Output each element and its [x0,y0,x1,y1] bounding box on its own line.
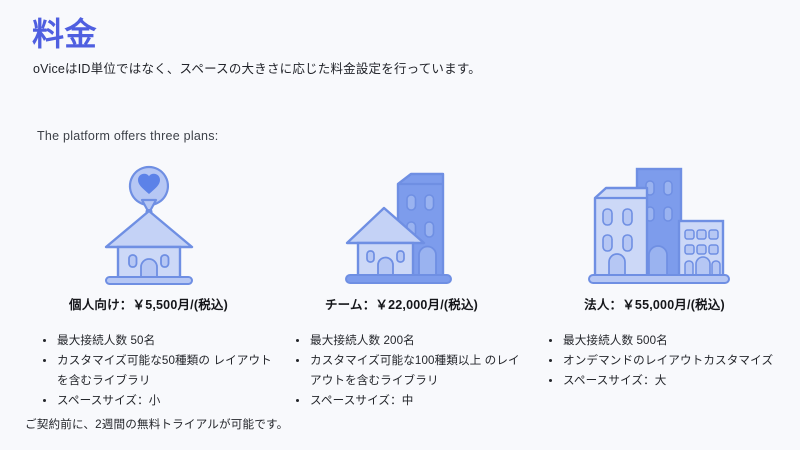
bullet-dot [43,399,46,402]
bullet-dot [549,339,552,342]
list-item: オンデマンドのレイアウトカスタマイズ [548,351,781,371]
plan-card-corporate: 法人：￥55,000月/(税込) 最大接続人数 500名 オンデマンドのレイアウ… [528,155,781,391]
plan-title: 法人：￥55,000月/(税込) [584,294,725,313]
lead-line: The platform offers three plans: [37,129,218,143]
plan-card-personal: 個人向け：￥5,500月/(税込) 最大接続人数 50名 カスタマイズ可能な50… [22,155,275,411]
plan-card-team: チーム：￥22,000月/(税込) 最大接続人数 200名 カスタマイズ可能な1… [275,155,528,411]
bullet-dot [296,359,299,362]
bullet-dot [296,339,299,342]
plans-row: 個人向け：￥5,500月/(税込) 最大接続人数 50名 カスタマイズ可能な50… [22,155,782,411]
list-item: 最大接続人数 500名 [548,331,781,351]
page-title: 料金 [32,16,97,53]
page-subtitle: oViceはID単位ではなく、スペースの大きさに応じた料金設定を行っています。 [33,58,481,77]
feature-text: カスタマイズ可能な100種類以上 のレイアウトを含むライブラリ [310,354,520,387]
list-item: カスタマイズ可能な50種類の レイアウトを含むライブラリ [42,351,275,390]
list-item: スペースサイズ：小 [42,391,275,411]
feature-text: 最大接続人数 200名 [310,334,415,347]
house-with-apartment-icon [275,155,528,285]
feature-text: スペースサイズ：大 [563,374,667,387]
feature-text: オンデマンドのレイアウトカスタマイズ [563,354,773,367]
bullet-dot [549,379,552,382]
list-item: スペースサイズ：大 [548,371,781,391]
bullet-dot [43,359,46,362]
city-buildings-icon [528,155,781,285]
list-item: 最大接続人数 50名 [42,331,275,351]
bullet-dot [549,359,552,362]
plan-features-list: 最大接続人数 50名 カスタマイズ可能な50種類の レイアウトを含むライブラリ … [22,331,275,411]
feature-text: 最大接続人数 500名 [563,334,668,347]
feature-text: 最大接続人数 50名 [57,334,155,347]
bullet-dot [296,399,299,402]
plan-title: 個人向け：￥5,500月/(税込) [69,294,228,313]
feature-text: スペースサイズ：小 [57,394,161,407]
list-item: スペースサイズ：中 [295,391,528,411]
house-with-heart-bubble-icon [22,155,275,285]
plan-features-list: 最大接続人数 200名 カスタマイズ可能な100種類以上 のレイアウトを含むライ… [275,331,528,411]
feature-text: スペースサイズ：中 [310,394,414,407]
plan-title: チーム：￥22,000月/(税込) [325,294,478,313]
list-item: カスタマイズ可能な100種類以上 のレイアウトを含むライブラリ [295,351,528,390]
pricing-slide: 料金 oViceはID単位ではなく、スペースの大きさに応じた料金設定を行っていま… [0,0,800,450]
bullet-dot [43,339,46,342]
plan-features-list: 最大接続人数 500名 オンデマンドのレイアウトカスタマイズ スペースサイズ：大 [528,331,781,391]
list-item: 最大接続人数 200名 [295,331,528,351]
feature-text: カスタマイズ可能な50種類の レイアウトを含むライブラリ [57,354,272,387]
trial-footnote: ご契約前に、2週間の無料トライアルが可能です。 [25,416,288,432]
